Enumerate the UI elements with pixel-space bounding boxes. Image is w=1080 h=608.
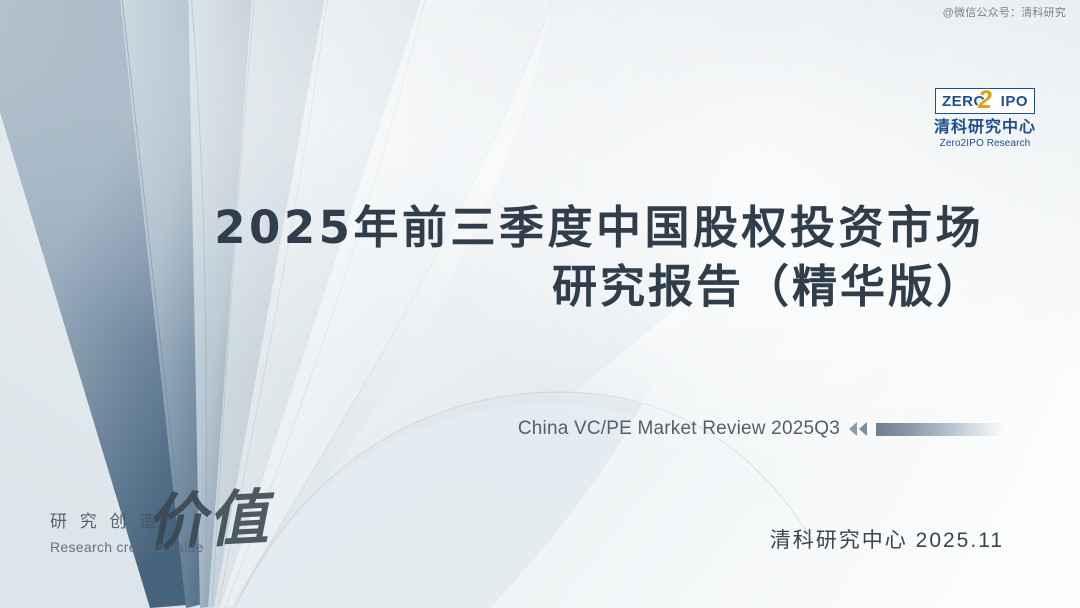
zero2ipo-logo: ZERO IPO 2 清科研究中心 Zero2IPO Research xyxy=(924,88,1046,149)
logo-two-glyph: 2 xyxy=(978,88,992,113)
logo-name-en: Zero2IPO Research xyxy=(924,138,1046,149)
triangle-pair-icon xyxy=(849,422,867,436)
title-line-2: 研究报告（精华版） xyxy=(0,257,984,316)
logo-wordmark: ZERO IPO 2 xyxy=(935,88,1035,114)
slogan-english: Research creates value xyxy=(50,540,204,554)
wechat-watermark: @微信公众号：清科研究 xyxy=(943,8,1066,19)
decorative-rule xyxy=(876,423,1004,436)
slogan-cn-prefix: 研 究 创 造 xyxy=(50,513,160,530)
brand-slogan: 研 究 创 造 价值 Research creates value xyxy=(50,505,350,585)
logo-name-cn: 清科研究中心 xyxy=(924,119,1046,137)
page-title: 2025年前三季度中国股权投资市场 研究报告（精华版） xyxy=(0,198,984,317)
slide-cover: @微信公众号：清科研究 ZERO IPO 2 清科研究中心 Zero2IPO R… xyxy=(0,0,1080,608)
subtitle-english: China VC/PE Market Review 2025Q3 xyxy=(518,418,840,440)
subtitle-row: China VC/PE Market Review 2025Q3 xyxy=(518,418,1004,440)
publisher-date: 清科研究中心 2025.11 xyxy=(770,524,1004,554)
title-line-1: 2025年前三季度中国股权投资市场 xyxy=(0,198,984,257)
triangle-left-icon-2 xyxy=(859,422,867,436)
triangle-left-icon xyxy=(849,422,857,436)
logo-ipo-text: IPO xyxy=(991,88,1035,114)
